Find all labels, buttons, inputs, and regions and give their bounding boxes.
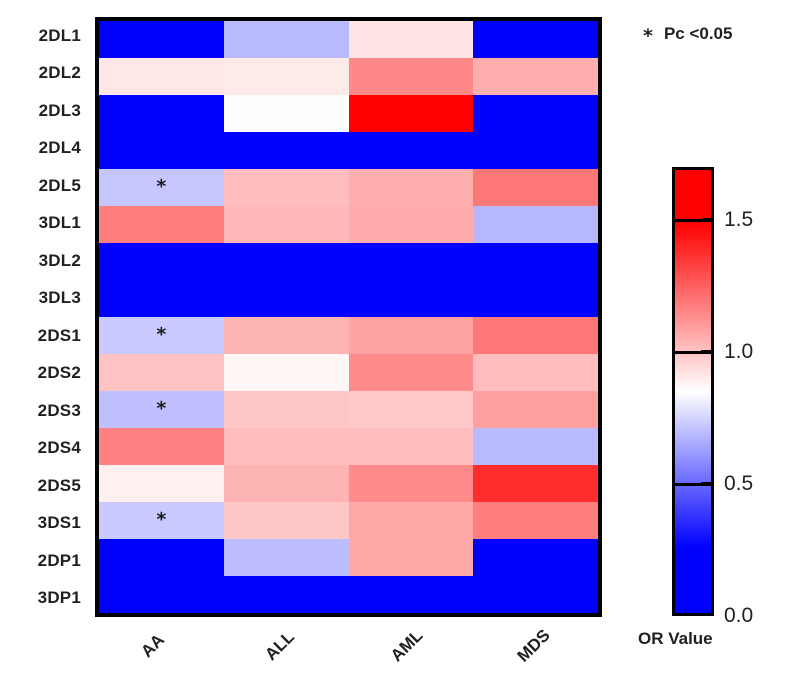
heatmap-grid: **** xyxy=(99,21,598,613)
heatmap-cell xyxy=(349,21,474,58)
heatmap-cell xyxy=(224,391,349,428)
heatmap-cell xyxy=(349,576,474,613)
column-label-all: ALL xyxy=(261,627,299,665)
heatmap-cell xyxy=(473,576,598,613)
heatmap-cell xyxy=(473,206,598,243)
heatmap-cell xyxy=(349,58,474,95)
heatmap-cell xyxy=(99,58,224,95)
heatmap-cell xyxy=(99,354,224,391)
heatmap-cell xyxy=(99,280,224,317)
significance-legend-label: Pc <0.05 xyxy=(664,24,733,44)
heatmap-cell xyxy=(99,576,224,613)
row-label-2dp1: 2DP1 xyxy=(0,542,90,580)
heatmap-cell xyxy=(349,539,474,576)
row-label-3dl1: 3DL1 xyxy=(0,205,90,243)
heatmap-cell xyxy=(99,132,224,169)
heatmap-cell: * xyxy=(99,317,224,354)
heatmap-cell xyxy=(349,354,474,391)
heatmap-cell xyxy=(349,391,474,428)
heatmap-cell xyxy=(224,428,349,465)
heatmap-cell xyxy=(473,539,598,576)
heatmap-cell xyxy=(224,280,349,317)
heatmap-cell xyxy=(349,502,474,539)
colorbar-tick-label: 1.0 xyxy=(724,341,753,362)
row-label-2dl1: 2DL1 xyxy=(0,17,90,55)
colorbar-tick-label: 0.5 xyxy=(724,473,753,494)
heatmap-cell xyxy=(473,280,598,317)
asterisk-icon: * xyxy=(156,399,166,418)
heatmap-cell xyxy=(224,21,349,58)
heatmap-cell xyxy=(99,21,224,58)
heatmap-cell xyxy=(473,58,598,95)
heatmap-cell: * xyxy=(99,169,224,206)
heatmap-cell xyxy=(224,502,349,539)
column-label-slot: AA xyxy=(95,620,222,682)
heatmap-cell xyxy=(224,243,349,280)
heatmap-cell xyxy=(473,21,598,58)
heatmap-cell xyxy=(224,354,349,391)
heatmap-cell xyxy=(473,391,598,428)
asterisk-icon: * xyxy=(156,510,166,529)
heatmap-cell: * xyxy=(99,391,224,428)
heatmap-cell xyxy=(473,317,598,354)
heatmap-cell xyxy=(99,206,224,243)
row-label-2dl4: 2DL4 xyxy=(0,130,90,168)
row-label-2ds5: 2DS5 xyxy=(0,467,90,505)
heatmap-cell xyxy=(224,95,349,132)
heatmap-cell xyxy=(224,132,349,169)
heatmap-cell xyxy=(473,465,598,502)
heatmap-cell xyxy=(349,169,474,206)
heatmap-cell xyxy=(349,243,474,280)
asterisk-icon: * xyxy=(643,27,653,46)
row-label-3dl3: 3DL3 xyxy=(0,280,90,318)
heatmap-cell xyxy=(99,465,224,502)
heatmap-cell xyxy=(349,428,474,465)
asterisk-icon: * xyxy=(156,177,166,196)
heatmap-cell xyxy=(224,58,349,95)
heatmap-cell xyxy=(473,169,598,206)
column-label-axis: AAALLAMLMDS xyxy=(95,620,602,682)
colorbar-gradient xyxy=(672,167,714,616)
heatmap-cell xyxy=(473,132,598,169)
row-label-axis: 2DL12DL22DL32DL42DL53DL13DL23DL32DS12DS2… xyxy=(0,17,90,617)
heatmap-cell xyxy=(349,206,474,243)
colorbar-legend: OR Value 1.51.00.50.0 xyxy=(672,167,791,667)
row-label-2dl5: 2DL5 xyxy=(0,167,90,205)
heatmap-cell xyxy=(473,95,598,132)
row-label-3ds1: 3DS1 xyxy=(0,505,90,543)
row-label-2ds1: 2DS1 xyxy=(0,317,90,355)
heatmap-cell xyxy=(349,465,474,502)
row-label-2ds4: 2DS4 xyxy=(0,430,90,468)
column-label-slot: AML xyxy=(349,620,476,682)
heatmap-cell xyxy=(99,243,224,280)
colorbar-title: OR Value xyxy=(638,629,713,649)
heatmap-cell xyxy=(349,317,474,354)
colorbar-tick-inner xyxy=(701,482,712,486)
heatmap-cell xyxy=(349,95,474,132)
heatmap-cell xyxy=(224,576,349,613)
column-label-aml: AML xyxy=(387,626,427,666)
column-label-aa: AA xyxy=(138,630,170,662)
heatmap-cell xyxy=(224,539,349,576)
heatmap-cell xyxy=(473,428,598,465)
row-label-3dp1: 3DP1 xyxy=(0,580,90,618)
colorbar-tick-inner xyxy=(701,350,712,354)
asterisk-icon: * xyxy=(156,325,166,344)
column-label-mds: MDS xyxy=(513,626,554,667)
heatmap-cell xyxy=(349,280,474,317)
heatmap-plot-area: **** xyxy=(95,17,602,617)
row-label-2dl2: 2DL2 xyxy=(0,55,90,93)
colorbar-tick-label: 1.5 xyxy=(724,209,753,230)
heatmap-cell xyxy=(224,317,349,354)
column-label-slot: ALL xyxy=(222,620,349,682)
row-label-2ds2: 2DS2 xyxy=(0,355,90,393)
heatmap-cell xyxy=(99,539,224,576)
row-label-2ds3: 2DS3 xyxy=(0,392,90,430)
heatmap-cell xyxy=(473,243,598,280)
heatmap-cell: * xyxy=(99,502,224,539)
heatmap-cell xyxy=(473,354,598,391)
column-label-slot: MDS xyxy=(475,620,602,682)
heatmap-cell xyxy=(224,169,349,206)
significance-legend: * Pc <0.05 xyxy=(643,24,732,44)
heatmap-cell xyxy=(224,465,349,502)
colorbar-tick-inner xyxy=(701,218,712,222)
heatmap-cell xyxy=(99,428,224,465)
row-label-2dl3: 2DL3 xyxy=(0,92,90,130)
heatmap-cell xyxy=(349,132,474,169)
heatmap-cell xyxy=(473,502,598,539)
row-label-3dl2: 3DL2 xyxy=(0,242,90,280)
heatmap-cell xyxy=(99,95,224,132)
heatmap-cell xyxy=(224,206,349,243)
colorbar-tick-label: 0.0 xyxy=(724,605,753,626)
